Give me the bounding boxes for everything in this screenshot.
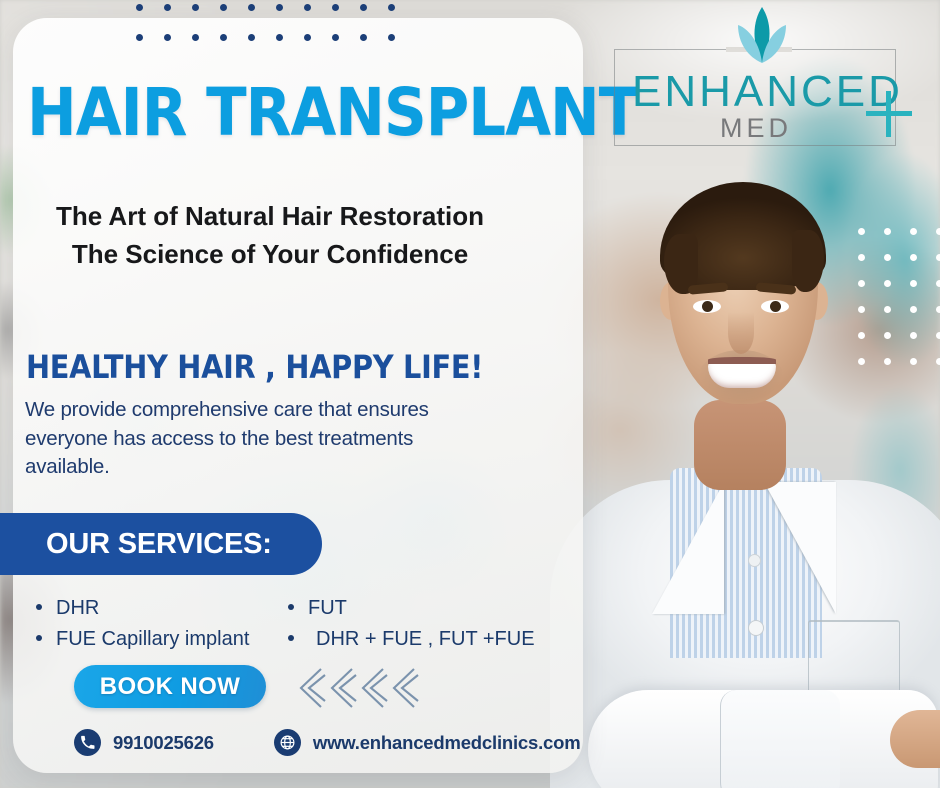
dot bbox=[910, 332, 917, 339]
coat-button-upper bbox=[748, 554, 761, 567]
services-list-right: FUT DHR + FUE , FUT +FUE bbox=[288, 593, 535, 655]
coat-button-lower bbox=[748, 620, 764, 636]
dot bbox=[884, 358, 891, 365]
eye-left bbox=[693, 300, 721, 313]
coat-pocket bbox=[808, 620, 900, 696]
hair bbox=[660, 182, 826, 290]
dot bbox=[388, 34, 395, 41]
dot bbox=[332, 4, 339, 11]
dot bbox=[936, 306, 940, 313]
dot bbox=[910, 306, 917, 313]
dot bbox=[910, 358, 917, 365]
bullet-icon bbox=[36, 635, 42, 641]
dot-grid-right bbox=[858, 228, 940, 358]
smile bbox=[708, 362, 776, 388]
dot bbox=[248, 34, 255, 41]
hero-subtitle-line-2: The Science of Your Confidence bbox=[0, 236, 540, 274]
bullet-icon bbox=[36, 604, 42, 610]
phone-icon bbox=[74, 729, 101, 756]
service-label: FUE Capillary implant bbox=[56, 624, 249, 655]
services-banner: OUR SERVICES: bbox=[0, 513, 322, 575]
lotus-leaf-icon bbox=[722, 5, 802, 67]
chevron-left-icon bbox=[358, 666, 388, 710]
brand-logo[interactable]: ENHANCED MED bbox=[614, 5, 914, 153]
dot bbox=[884, 306, 891, 313]
dot bbox=[910, 280, 917, 287]
chevron-left-icon bbox=[389, 666, 419, 710]
dot bbox=[276, 4, 283, 11]
neck bbox=[694, 400, 786, 490]
dot bbox=[220, 34, 227, 41]
phone-number: 9910025626 bbox=[113, 732, 214, 754]
dot bbox=[910, 228, 917, 235]
page-title: HAIR TRANSPLANT bbox=[27, 83, 638, 144]
contact-website[interactable]: www.enhancedmedclinics.com bbox=[274, 729, 581, 756]
dot bbox=[936, 228, 940, 235]
dot bbox=[304, 4, 311, 11]
dot bbox=[858, 280, 865, 287]
bullet-icon bbox=[288, 604, 294, 610]
services-banner-label: OUR SERVICES: bbox=[46, 528, 272, 561]
logo-secondary-text: MED bbox=[720, 113, 792, 144]
dot bbox=[332, 34, 339, 41]
hero-subtitle-line-1: The Art of Natural Hair Restoration bbox=[0, 198, 540, 236]
dot bbox=[858, 358, 865, 365]
list-item: FUT bbox=[288, 593, 535, 624]
services-list-left: DHR FUE Capillary implant bbox=[36, 593, 249, 655]
dot bbox=[936, 358, 940, 365]
hero-subtitle: The Art of Natural Hair Restoration The … bbox=[0, 198, 540, 273]
website-url: www.enhancedmedclinics.com bbox=[313, 732, 581, 754]
dot bbox=[248, 4, 255, 11]
contact-row: 9910025626 www.enhancedmedclinics.com bbox=[74, 729, 580, 756]
plus-icon bbox=[866, 91, 912, 137]
dot bbox=[360, 4, 367, 11]
book-now-button[interactable]: BOOK NOW bbox=[74, 665, 266, 708]
chevron-left-icon bbox=[296, 666, 326, 710]
coat-lapel-left bbox=[652, 482, 724, 614]
dot bbox=[858, 254, 865, 261]
dot bbox=[884, 332, 891, 339]
dot bbox=[858, 228, 865, 235]
list-item: DHR bbox=[36, 593, 249, 624]
coat-lapel-right bbox=[764, 482, 836, 614]
dot bbox=[304, 34, 311, 41]
contact-phone[interactable]: 9910025626 bbox=[74, 729, 214, 756]
list-item: DHR + FUE , FUT +FUE bbox=[288, 624, 535, 655]
dot bbox=[164, 4, 171, 11]
dot bbox=[858, 332, 865, 339]
dot bbox=[192, 34, 199, 41]
dot bbox=[936, 280, 940, 287]
tagline-heading: HEALTHY HAIR , HAPPY LIFE! bbox=[26, 348, 483, 386]
logo-primary-text: ENHANCED bbox=[632, 67, 903, 117]
dot bbox=[388, 4, 395, 11]
globe-icon bbox=[274, 729, 301, 756]
eye-right bbox=[761, 300, 789, 313]
service-label: DHR + FUE , FUT +FUE bbox=[316, 624, 535, 655]
dot bbox=[220, 4, 227, 11]
dot bbox=[858, 306, 865, 313]
list-item: FUE Capillary implant bbox=[36, 624, 249, 655]
dot bbox=[936, 332, 940, 339]
dot bbox=[884, 254, 891, 261]
dot bbox=[164, 34, 171, 41]
dot bbox=[136, 4, 143, 11]
dot bbox=[936, 254, 940, 261]
nose bbox=[728, 312, 754, 354]
dot bbox=[136, 34, 143, 41]
dot bbox=[276, 34, 283, 41]
tagline-body: We provide comprehensive care that ensur… bbox=[25, 396, 455, 482]
hand bbox=[890, 710, 940, 768]
sleeve-cuff bbox=[720, 690, 840, 788]
dot bbox=[910, 254, 917, 261]
chevron-left-icon bbox=[327, 666, 357, 710]
dot-grid-top bbox=[136, 4, 406, 48]
dot bbox=[192, 4, 199, 11]
chevron-arrows bbox=[296, 664, 426, 712]
service-label: DHR bbox=[56, 593, 99, 624]
book-now-label: BOOK NOW bbox=[100, 673, 241, 701]
service-label: FUT bbox=[308, 593, 347, 624]
bullet-icon bbox=[288, 635, 294, 641]
dot bbox=[884, 280, 891, 287]
dot bbox=[360, 34, 367, 41]
dot bbox=[884, 228, 891, 235]
